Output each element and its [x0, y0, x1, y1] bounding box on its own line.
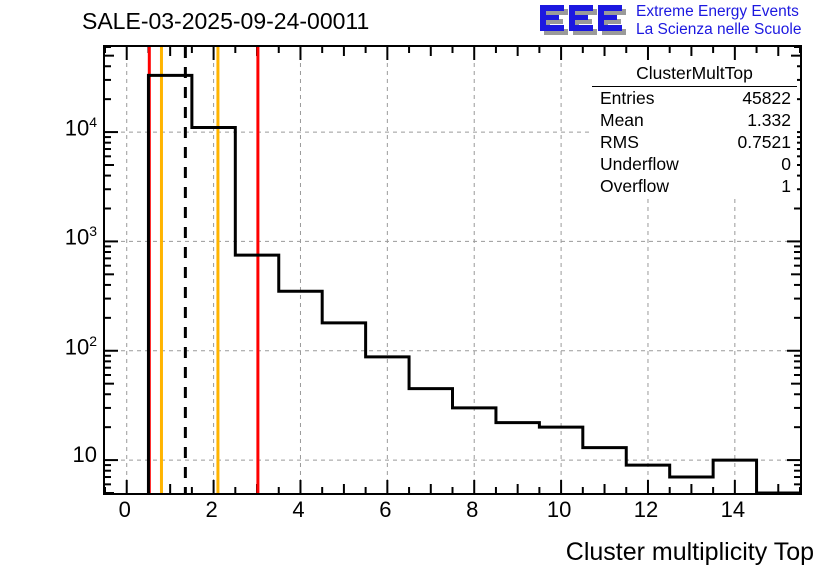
- stats-row-key: Entries: [600, 88, 654, 108]
- eee-logo-text: Extreme Energy Events La Scienza nelle S…: [636, 3, 801, 38]
- eee-logo-icon: [540, 4, 632, 38]
- stats-box-rows: Entries45822Mean1.332RMS0.7521Underflow0…: [592, 87, 797, 197]
- stats-row-value: 0: [781, 154, 791, 174]
- x-axis-tick-label: 12: [616, 497, 676, 523]
- marker-lines: [149, 47, 258, 493]
- eee-logo-line1: Extreme Energy Events: [636, 3, 801, 21]
- stats-row: Mean1.332: [592, 109, 797, 131]
- stats-row-key: Underflow: [600, 154, 679, 174]
- stats-row: Entries45822: [592, 87, 797, 109]
- eee-logo: Extreme Energy Events La Scienza nelle S…: [540, 2, 836, 42]
- x-axis-tick-label: 8: [442, 497, 502, 523]
- stats-row-key: RMS: [600, 132, 639, 152]
- stats-row: RMS0.7521: [592, 131, 797, 153]
- plot-canvas: SALE-03-2025-09-24-00011: [0, 0, 836, 572]
- x-axis-tick-label: 10: [529, 497, 589, 523]
- stats-row-value: 1.332: [747, 110, 791, 130]
- page-title: SALE-03-2025-09-24-00011: [82, 8, 369, 35]
- y-axis-tick-label: 10: [73, 442, 97, 468]
- x-axis-tick-label: 4: [268, 497, 328, 523]
- eee-logo-line2: La Scienza nelle Scuole: [636, 21, 801, 39]
- stats-box: ClusterMultTop Entries45822Mean1.332RMS0…: [592, 62, 797, 197]
- stats-row-value: 45822: [742, 88, 791, 108]
- stats-row-value: 1: [781, 176, 791, 196]
- y-axis-tick-label: 102: [65, 333, 97, 360]
- y-axis-tick-label: 103: [65, 223, 97, 250]
- x-axis-tick-label: 14: [703, 497, 763, 523]
- stats-box-title: ClusterMultTop: [592, 62, 797, 87]
- x-axis-tick-label: 6: [355, 497, 415, 523]
- stats-row: Overflow1: [592, 175, 797, 197]
- stats-row-key: Mean: [600, 110, 644, 130]
- stats-row: Underflow0: [592, 153, 797, 175]
- x-axis-title: Cluster multiplicity Top: [566, 538, 814, 567]
- x-axis-tick-label: 2: [182, 497, 242, 523]
- stats-row-value: 0.7521: [737, 132, 791, 152]
- y-axis-tick-label: 104: [65, 114, 97, 141]
- x-axis-tick-label: 0: [95, 497, 155, 523]
- stats-row-key: Overflow: [600, 176, 669, 196]
